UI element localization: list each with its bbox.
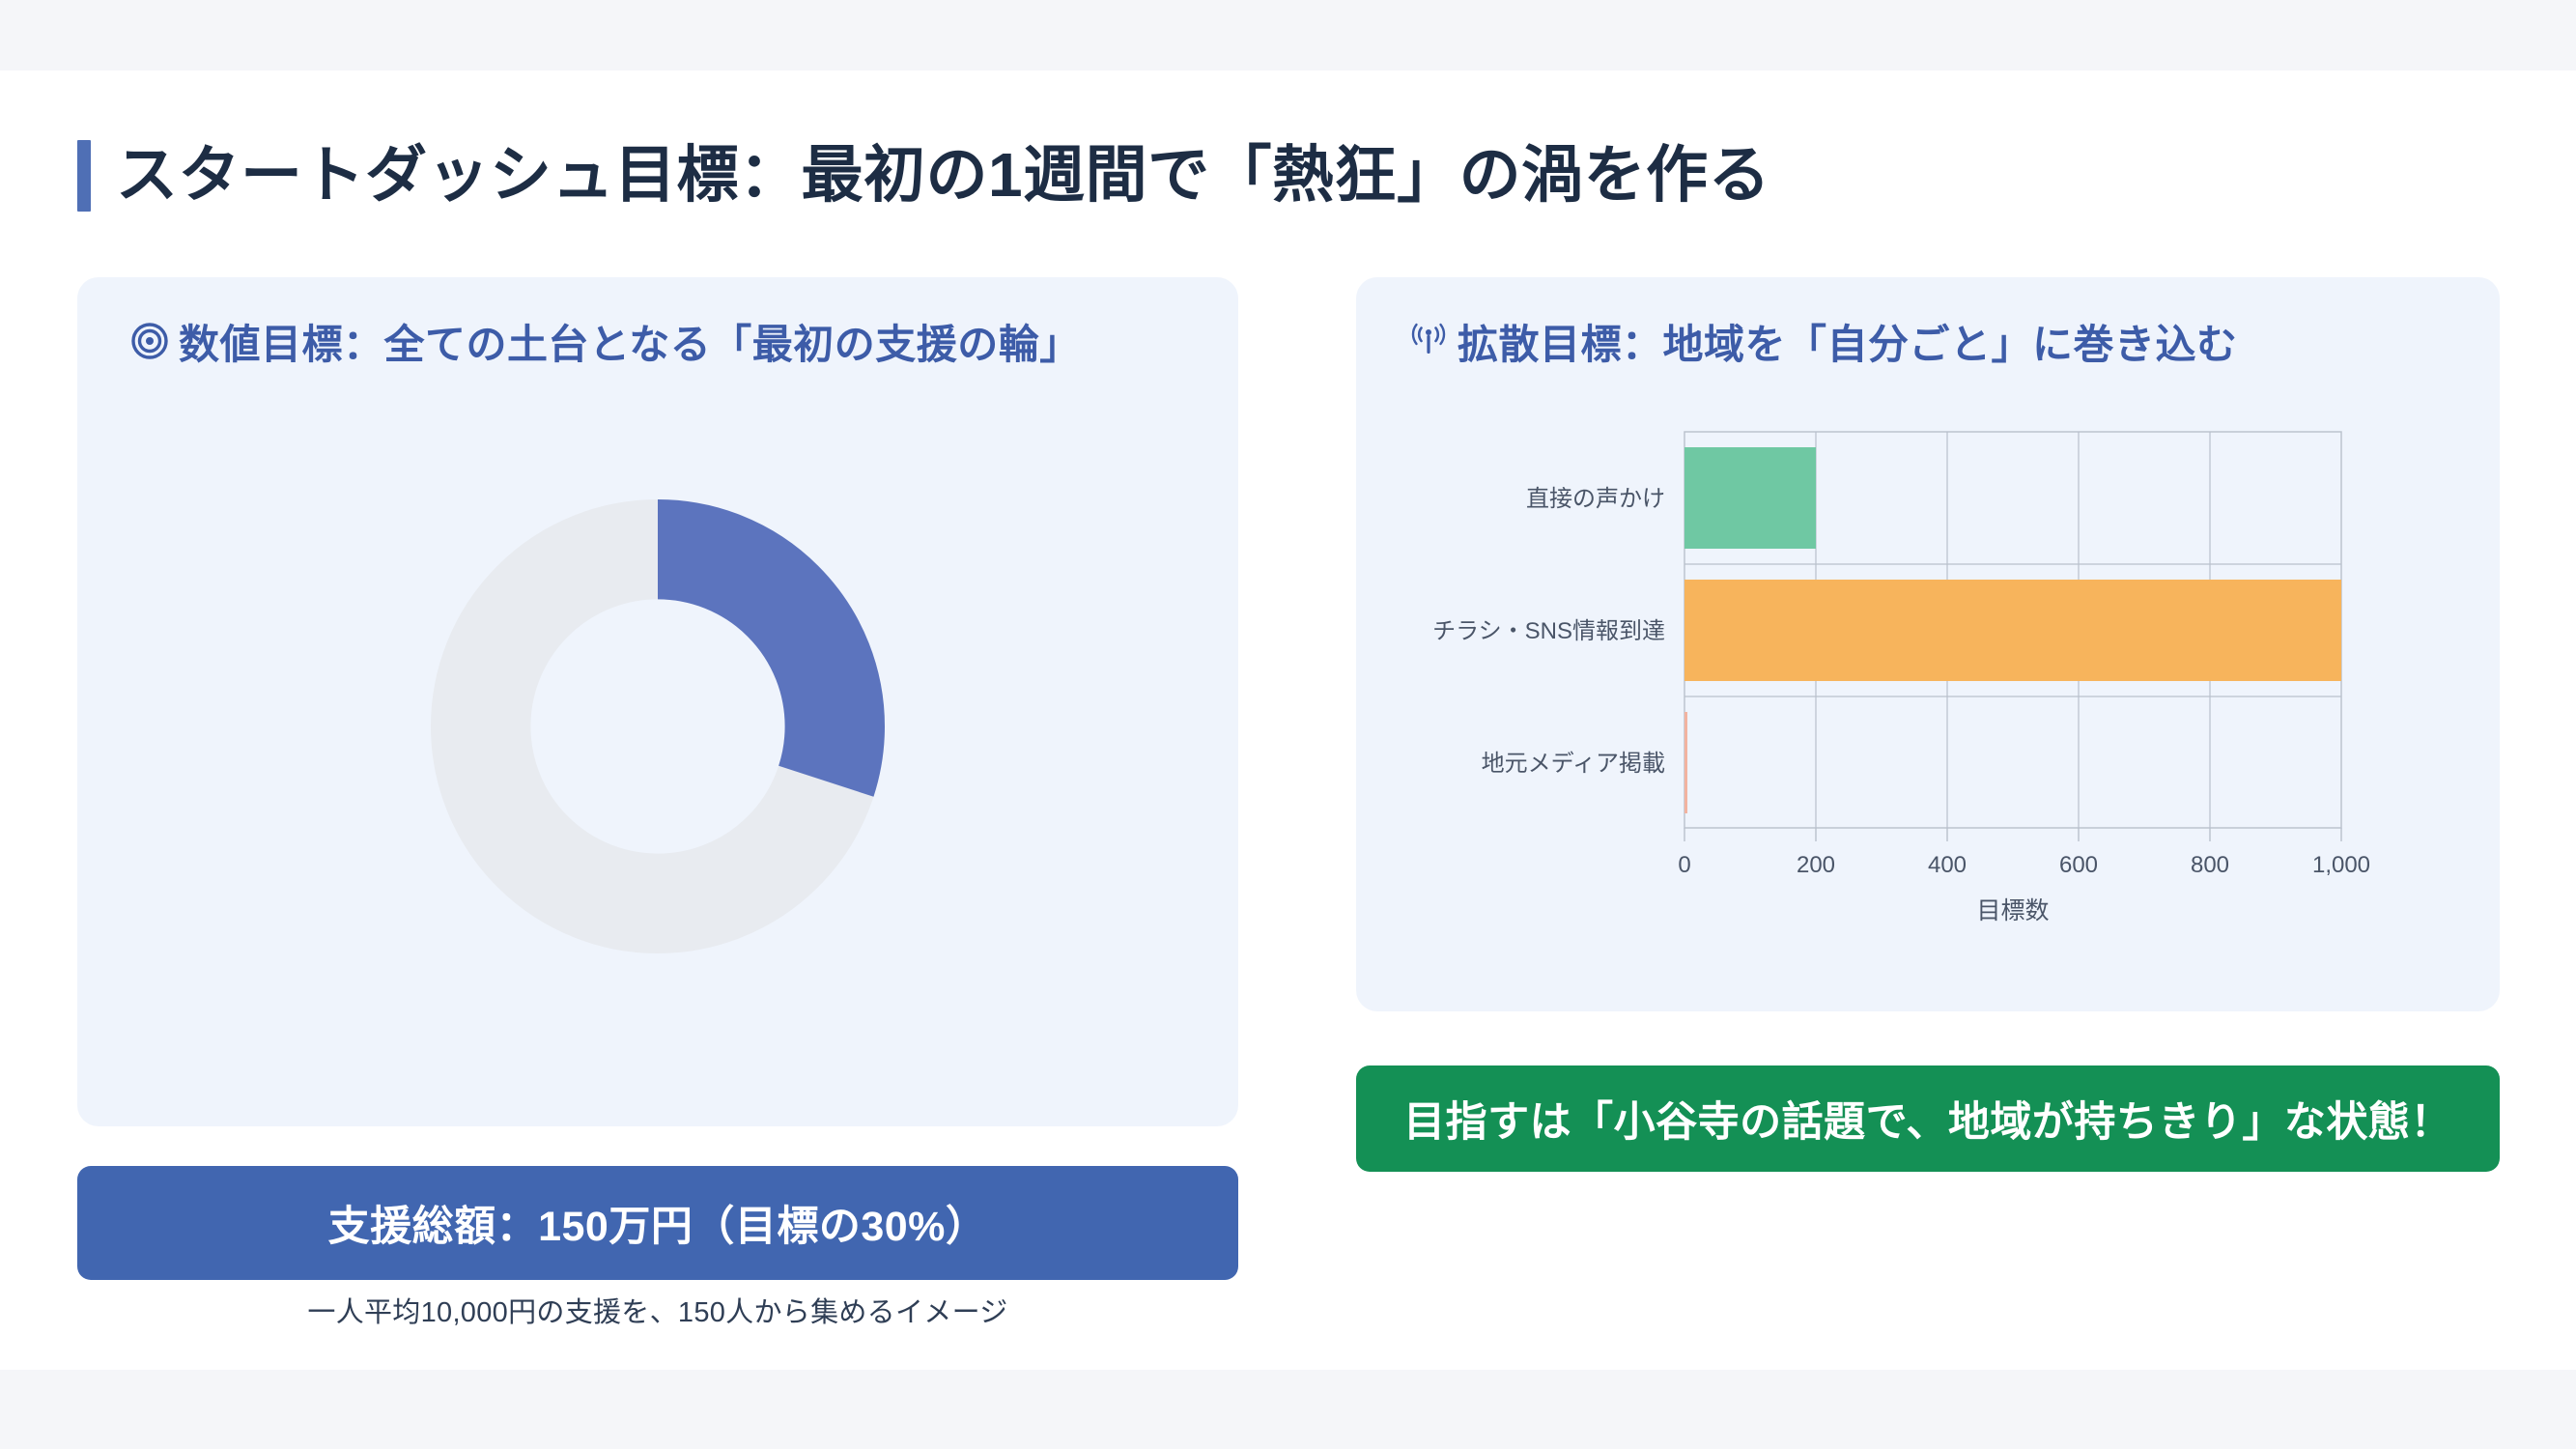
xtick-label-4: 800 (2191, 852, 2229, 878)
bar-flyer-sns-reach (1684, 580, 2341, 681)
broadcast-antenna-icon (1409, 318, 1448, 377)
reach-goal-card-heading: 拡散目標：地域を「自分ごと」に巻き込む (1409, 316, 2456, 377)
title-accent-bar (77, 140, 91, 212)
bar-direct-outreach (1684, 447, 1816, 549)
page-title: スタートダッシュ目標：最初の1週間で「熱狂」の渦を作る (77, 140, 1770, 212)
donut-caption: 一人平均10,000円の支援を、150人から集めるイメージ (77, 1290, 1238, 1330)
bar-local-media (1684, 712, 1687, 813)
xtick-label-1: 200 (1797, 852, 1835, 878)
ytick-label-1: チラシ・SNS情報到達 (1432, 618, 1665, 644)
xtick-label-0: 0 (1678, 852, 1690, 878)
target-state-banner-text: 目指すは「小谷寺の話題で、地域が持ちきり」な状態！ (1403, 1089, 2452, 1149)
bar-chart-xaxis-label: 目標数 (1976, 897, 2049, 924)
supporters-donut-chart (77, 480, 1238, 973)
bar-chart-ytick-labels: 直接の声かけ チラシ・SNS情報到達 地元メディア掲載 (1432, 486, 1665, 777)
total-funding-banner[interactable]: 支援総額：150万円（目標の30%） (77, 1166, 1238, 1280)
title-text: スタートダッシュ目標：最初の1週間で「熱狂」の渦を作る (116, 143, 1770, 208)
xtick-label-2: 400 (1928, 852, 1967, 878)
slide-root: スタートダッシュ目標：最初の1週間で「熱狂」の渦を作る 数値目標：全ての土台とな… (0, 0, 2576, 1449)
reach-goal-bar-chart: 直接の声かけ チラシ・SNS情報到達 地元メディア掲載 0 200 400 (1375, 422, 2480, 963)
bar-chart-bars (1684, 447, 2341, 813)
numeric-goal-card: 数値目標：全ての土台となる「最初の支援の輪」 支援者数：150人 残り目標 一人… (77, 277, 1238, 1126)
total-funding-banner-text: 支援総額：150万円（目標の30%） (328, 1193, 988, 1253)
target-state-banner[interactable]: 目指すは「小谷寺の話題で、地域が持ちきり」な状態！ (1356, 1065, 2500, 1172)
ytick-label-2: 地元メディア掲載 (1482, 751, 1665, 777)
bar-chart-xticks (1684, 828, 2341, 841)
target-icon (130, 318, 169, 377)
reach-goal-card: 拡散目標：地域を「自分ごと」に巻き込む (1356, 277, 2500, 1011)
ytick-label-0: 直接の声かけ (1526, 486, 1665, 512)
xtick-label-3: 600 (2059, 852, 2098, 878)
bar-chart-xtick-labels: 0 200 400 600 800 1,000 (1678, 852, 2370, 878)
xtick-label-5: 1,000 (2312, 852, 2370, 878)
reach-goal-card-heading-text: 拡散目標：地域を「自分ごと」に巻き込む (1458, 322, 2238, 367)
numeric-goal-card-heading: 数値目標：全ての土台となる「最初の支援の輪」 (130, 316, 1195, 377)
numeric-goal-card-heading-text: 数値目標：全ての土台となる「最初の支援の輪」 (179, 322, 1081, 367)
